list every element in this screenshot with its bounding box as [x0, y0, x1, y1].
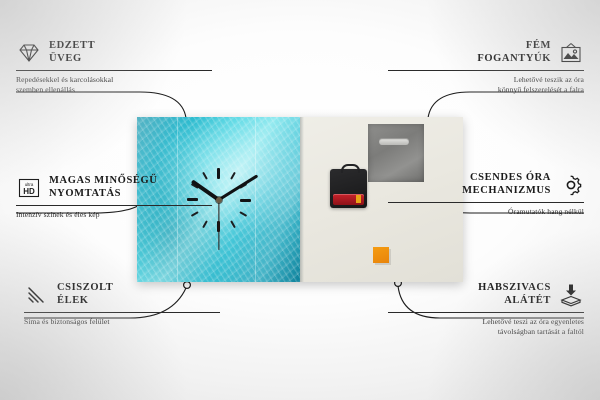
- feature-title: MAGAS MINŐSÉGŰNYOMTATÁS: [49, 175, 157, 201]
- foam-pad-icon: [558, 282, 584, 308]
- gear-icon: [558, 172, 584, 198]
- diamond-icon: [16, 40, 42, 66]
- clock-center-cap: [216, 197, 222, 203]
- feature-description: Sima és biztonságos felület: [24, 317, 220, 327]
- feature-title: CSENDES ÓRAMECHANIZMUS: [462, 172, 551, 198]
- feature-metal-handles: FÉMFOGANTYÚK Lehetővé teszik az órakönny…: [388, 40, 584, 96]
- feature-header: HABSZIVACSALÁTÉT: [388, 282, 584, 308]
- feature-silent-mechanism: CSENDES ÓRAMECHANIZMUS Óramutatók hang n…: [388, 172, 584, 217]
- divider: [388, 70, 584, 71]
- infographic-stage: EDZETTÜVEG Repedésekkel és karcolásokkal…: [0, 0, 600, 400]
- feature-header: CSISZOLTÉLEK: [24, 282, 220, 308]
- feature-description: Lehetővé teszik az órakönnyű felszerelés…: [388, 75, 584, 96]
- feature-high-quality-print: ultra HD MAGAS MINŐSÉGŰNYOMTATÁS Intenzí…: [16, 175, 212, 220]
- clock-second-hand: [218, 200, 219, 250]
- divider: [16, 205, 212, 206]
- feature-header: FÉMFOGANTYÚK: [388, 40, 584, 66]
- picture-hanger-icon: [558, 40, 584, 66]
- foam-pad: [373, 247, 389, 263]
- feature-title: HABSZIVACSALÁTÉT: [478, 282, 551, 308]
- feature-title: CSISZOLTÉLEK: [57, 282, 113, 308]
- battery: [333, 194, 364, 205]
- feature-foam-pad: HABSZIVACSALÁTÉT Lehetővé teszi az óra e…: [388, 282, 584, 338]
- glass-seam: [255, 117, 256, 282]
- mechanism-hook: [341, 164, 360, 173]
- divider: [16, 70, 212, 71]
- divider: [388, 312, 584, 313]
- divider: [24, 312, 220, 313]
- svg-text:HD: HD: [23, 187, 35, 196]
- hanger-slot: [379, 138, 409, 145]
- feature-header: EDZETTÜVEG: [16, 40, 212, 66]
- feature-title: FÉMFOGANTYÚK: [477, 40, 551, 66]
- feature-description: Repedésekkel és karcolásokkalszemben ell…: [16, 75, 212, 96]
- feature-header: CSENDES ÓRAMECHANIZMUS: [388, 172, 584, 198]
- polished-edges-icon: [24, 282, 50, 308]
- feature-description: Óramutatók hang nélkül: [388, 207, 584, 217]
- clock-mechanism: [330, 169, 367, 208]
- divider: [388, 202, 584, 203]
- ultra-hd-icon: ultra HD: [16, 175, 42, 201]
- feature-description: Intenzív színek és éles kép: [16, 210, 212, 220]
- feature-description: Lehetővé teszi az óra egyenletestávolság…: [388, 317, 584, 338]
- feature-header: ultra HD MAGAS MINŐSÉGŰNYOMTATÁS: [16, 175, 212, 201]
- feature-title: EDZETTÜVEG: [49, 40, 95, 66]
- feature-tempered-glass: EDZETTÜVEG Repedésekkel és karcolásokkal…: [16, 40, 212, 96]
- feature-polished-edges: CSISZOLTÉLEK Sima és biztonságos felület: [24, 282, 220, 327]
